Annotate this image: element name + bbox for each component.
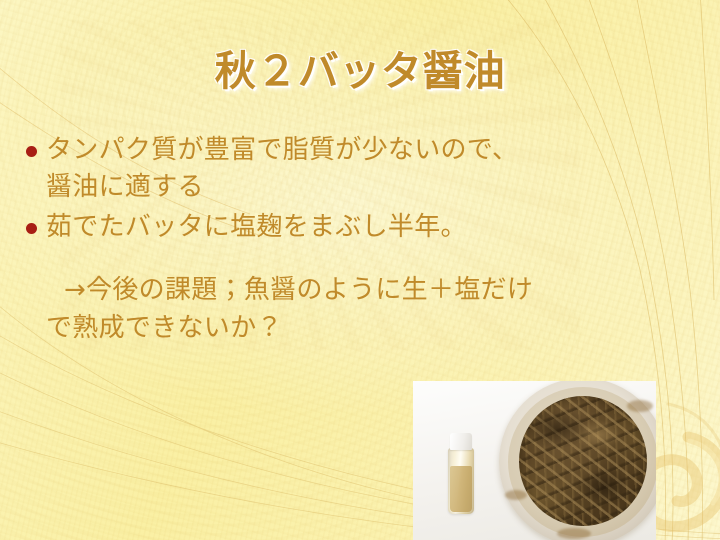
note-block: →今後の課題；魚醤のように生＋塩だけ で熟成できないか？ [26,272,682,347]
bullet-text: 茹でたバッタに塩麹をまぶし半年。 [46,209,682,246]
jar-smear [557,528,591,539]
photo-bottle-and-jar [413,381,656,540]
bullet-item: 茹でたバッタに塩麹をまぶし半年。 [26,209,682,246]
fermentation-jar [499,381,656,540]
bullet-item: タンパク質が豊富で脂質が少ないので、 醤油に適する [26,132,682,207]
jar-contents [519,396,647,526]
note-line-1: →今後の課題；魚醤のように生＋塩だけ [64,272,682,309]
sauce-bottle [447,433,475,515]
bullet-dot-icon [26,146,37,157]
bullet-line-1: 茹でたバッタに塩麹をまぶし半年。 [46,212,467,242]
bullet-line-1: タンパク質が豊富で脂質が少ないので、 [46,135,518,165]
slide-body: タンパク質が豊富で脂質が少ないので、 醤油に適する 茹でたバッタに塩麹をまぶし半… [26,132,682,347]
bottle-liquid [450,466,472,512]
bullet-dot-icon [26,223,37,234]
jar-smear [627,400,653,412]
bottle-cap [450,433,472,450]
note-line-2: で熟成できないか？ [46,310,682,347]
jar-smear [505,490,527,500]
slide-title: 秋２バッタ醤油 [0,47,720,96]
bullet-text: タンパク質が豊富で脂質が少ないので、 醤油に適する [46,132,682,207]
slide: 秋２バッタ醤油 タンパク質が豊富で脂質が少ないので、 醤油に適する 茹でたバッタ… [0,0,720,540]
bullet-line-2: 醤油に適する [46,169,682,206]
